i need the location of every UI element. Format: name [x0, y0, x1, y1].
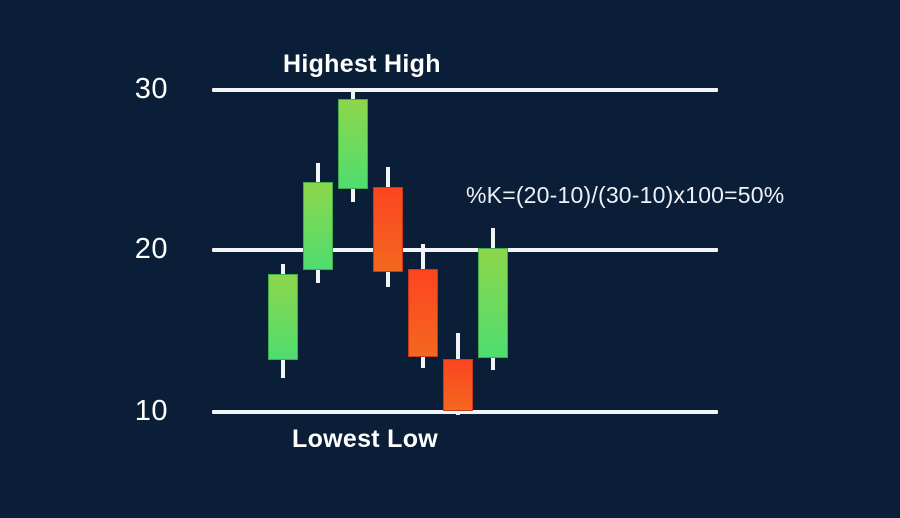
y-axis-tick-20: 20: [108, 235, 168, 264]
y-axis-tick-30: 30: [108, 75, 168, 104]
highest-high-label: Highest High: [283, 52, 441, 77]
reference-line-30: [212, 88, 718, 92]
lowest-low-label: Lowest Low: [292, 427, 438, 452]
stochastic-formula-label: %K=(20-10)/(30-10)x100=50%: [466, 184, 784, 207]
stochastic-oscillator-chart: 30 20 10 Highest High Lowest Low %K=(20-…: [0, 0, 900, 518]
candlestick-5: [408, 244, 438, 368]
candlestick-6-body: [443, 359, 473, 411]
reference-line-20: [212, 248, 718, 252]
candlestick-7: [478, 228, 508, 370]
candlestick-3: [338, 88, 368, 202]
candlestick-5-body: [408, 269, 438, 357]
candlestick-3-body: [338, 99, 368, 189]
candlestick-4: [373, 167, 403, 287]
candlestick-1-body: [268, 274, 298, 360]
candlestick-2-body: [303, 182, 333, 270]
candlestick-6: [443, 333, 473, 415]
candlestick-7-body: [478, 248, 508, 358]
candlestick-1: [268, 264, 298, 378]
y-axis-tick-10: 10: [108, 397, 168, 426]
candlestick-2: [303, 163, 333, 283]
candlestick-4-body: [373, 187, 403, 272]
